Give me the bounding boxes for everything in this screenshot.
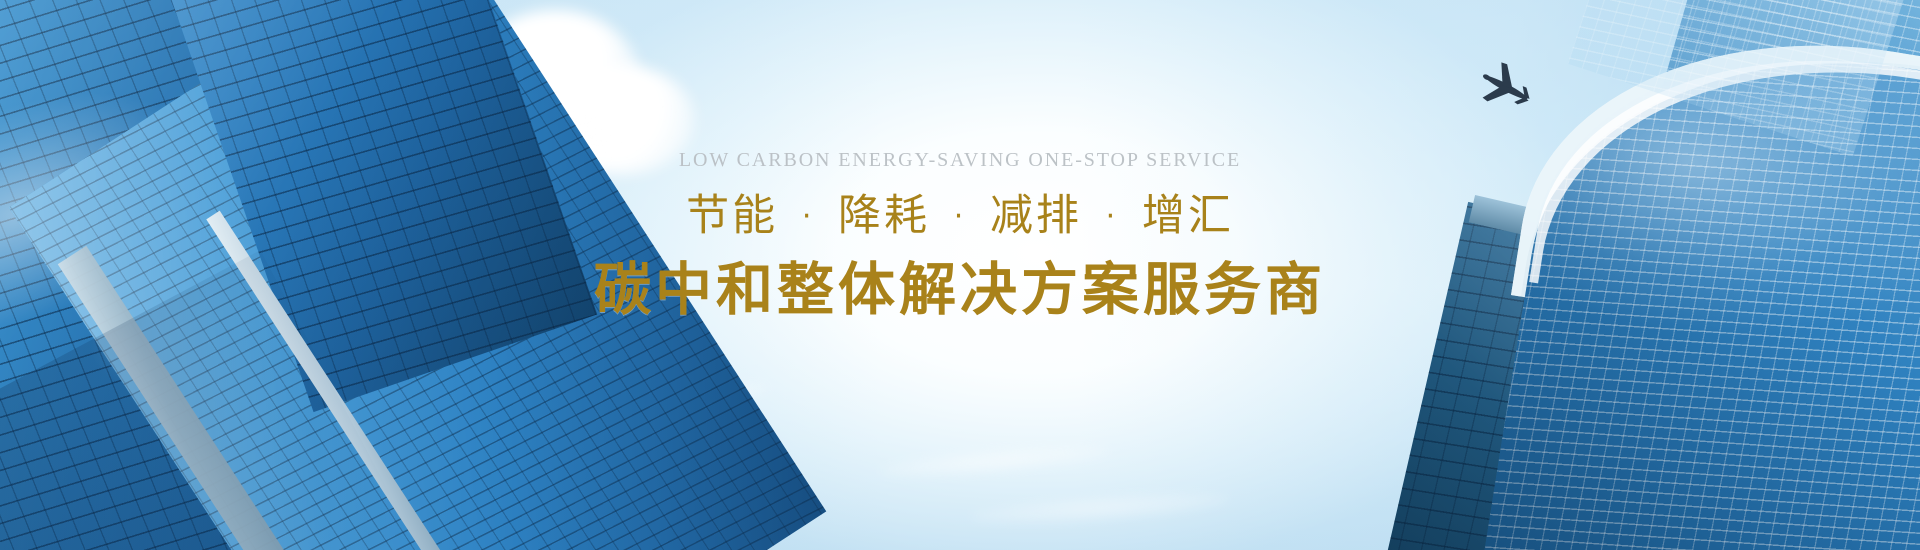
subtitle-separator-1: · <box>795 199 822 234</box>
headline-chinese: 碳中和整体解决方案服务商 <box>0 257 1920 324</box>
banner-copy: LOW CARBON ENERGY-SAVING ONE-STOP SERVIC… <box>0 150 1920 325</box>
tagline-english: LOW CARBON ENERGY-SAVING ONE-STOP SERVIC… <box>0 150 1920 170</box>
subtitle-chinese: 节能 · 降耗 · 减排 · 增汇 <box>0 192 1920 241</box>
subtitle-part-1: 节能 <box>686 191 778 241</box>
subtitle-separator-2: · <box>947 199 974 234</box>
subtitle-part-4: 增汇 <box>1142 191 1234 241</box>
subtitle-part-3: 减排 <box>990 191 1082 241</box>
subtitle-separator-3: · <box>1099 199 1126 234</box>
subtitle-part-2: 降耗 <box>838 191 930 241</box>
airplane-icon <box>1472 62 1542 114</box>
hero-banner: LOW CARBON ENERGY-SAVING ONE-STOP SERVIC… <box>0 0 1920 550</box>
